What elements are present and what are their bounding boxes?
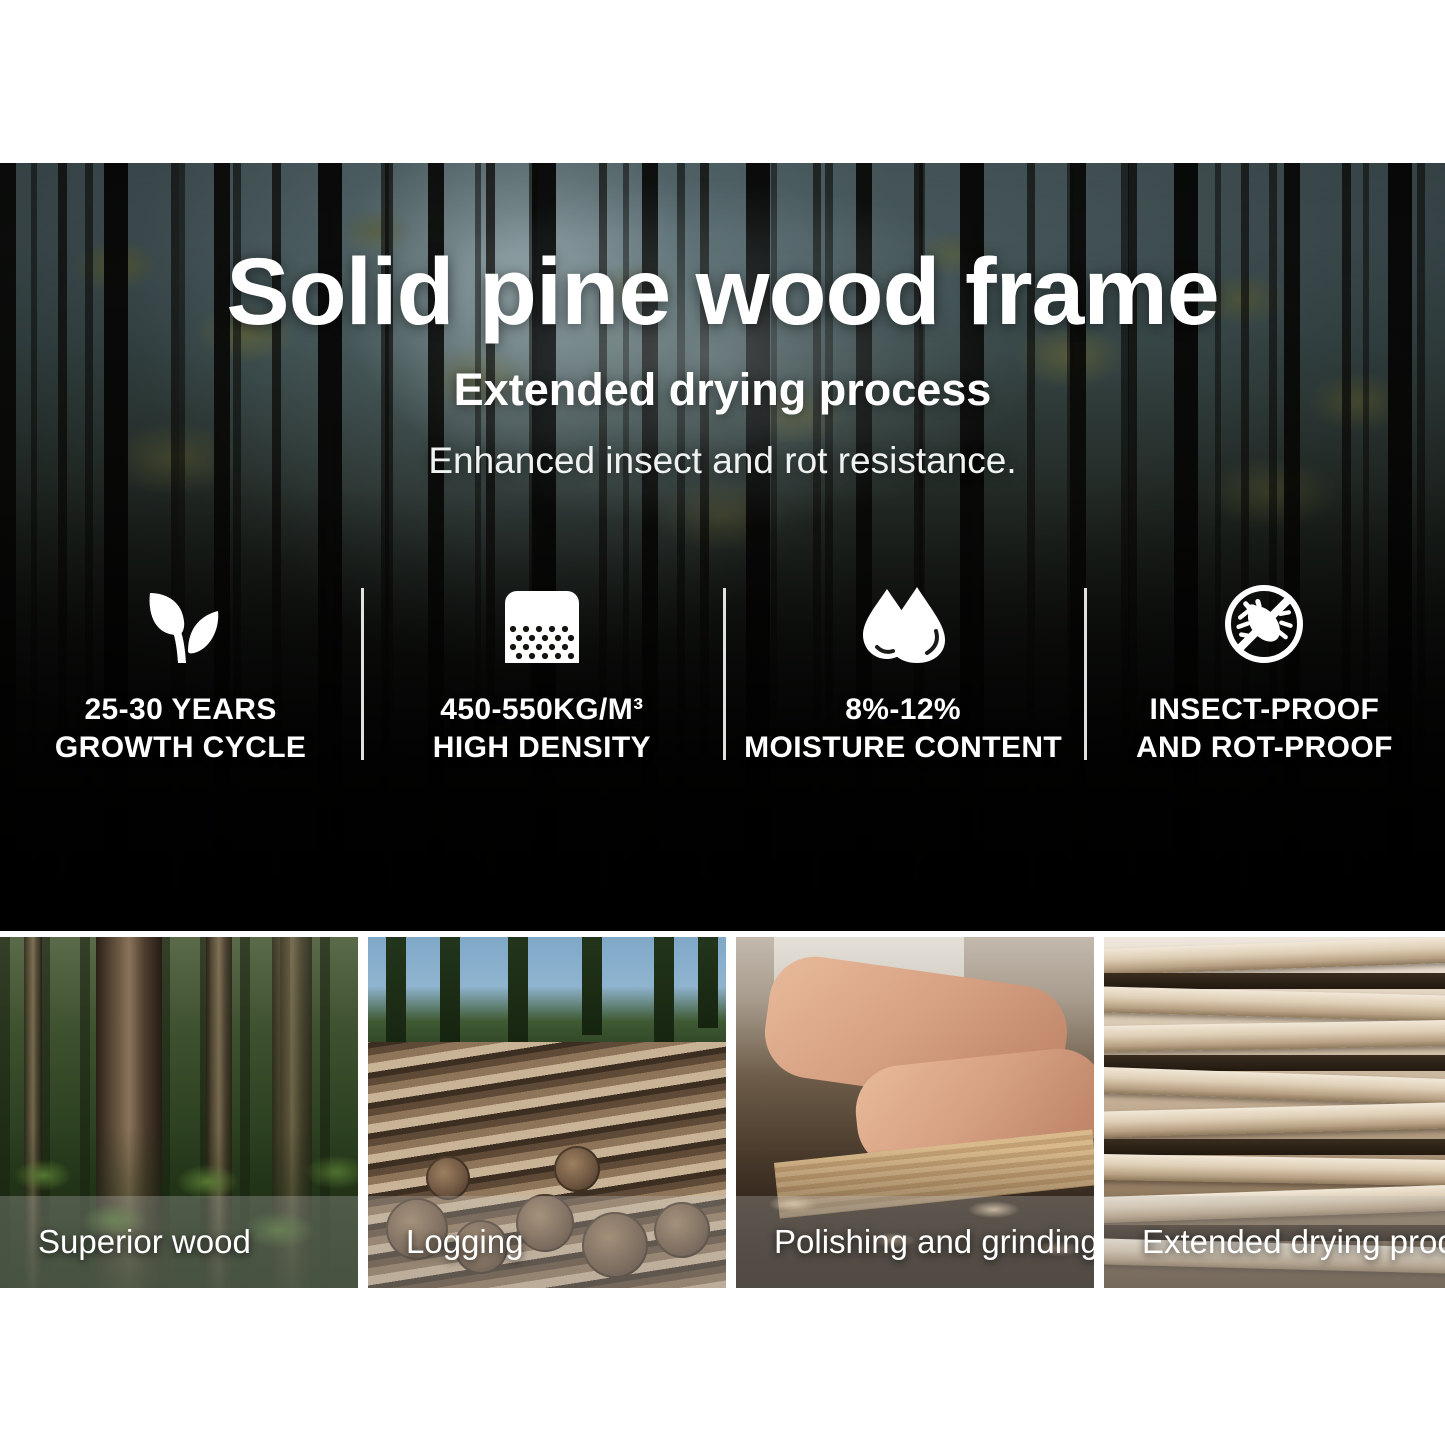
feature-insect-rot-proof: INSECT-PROOF AND ROT-PROOF: [1084, 583, 1445, 768]
hero-text-block: Solid pine wood frame Extended drying pr…: [0, 163, 1445, 482]
gallery-caption: Superior wood: [0, 1196, 358, 1288]
feature-high-density: 450-550KG/M³ HIGH DENSITY: [361, 583, 722, 768]
feature-growth-cycle: 25-30 YEARS GROWTH CYCLE: [0, 583, 361, 768]
hero-banner: Solid pine wood frame Extended drying pr…: [0, 163, 1445, 931]
gallery-tile-extended-drying[interactable]: Extended drying process: [1104, 937, 1445, 1288]
gallery-tile-superior-wood[interactable]: Superior wood: [0, 937, 358, 1288]
feature-label: 8%-12% MOISTURE CONTENT: [744, 691, 1062, 768]
feature-label: INSECT-PROOF AND ROT-PROOF: [1136, 691, 1393, 768]
gallery-caption: Logging: [368, 1196, 726, 1288]
gallery-caption: Extended drying process: [1104, 1196, 1445, 1288]
gallery-tile-logging[interactable]: Logging: [368, 937, 726, 1288]
infographic-page: Solid pine wood frame Extended drying pr…: [0, 0, 1445, 1445]
feature-label: 25-30 YEARS GROWTH CYCLE: [55, 691, 306, 768]
hero-subtitle: Extended drying process: [0, 340, 1445, 416]
feature-moisture-content: 8%-12% MOISTURE CONTENT: [723, 583, 1084, 768]
no-insect-icon: [1218, 583, 1310, 665]
hero-tagline: Enhanced insect and rot resistance.: [0, 416, 1445, 482]
gallery-caption: Polishing and grinding: [736, 1196, 1094, 1288]
top-white-margin: [0, 0, 1445, 163]
water-drops-icon: [857, 583, 949, 665]
hero-title: Solid pine wood frame: [0, 163, 1445, 340]
gallery-tile-polishing-grinding[interactable]: Polishing and grinding: [736, 937, 1094, 1288]
feature-list: 25-30 YEARS GROWTH CYCLE: [0, 583, 1445, 768]
bottom-white-margin: [0, 1288, 1445, 1445]
density-block-icon: [496, 583, 588, 665]
feature-label: 450-550KG/M³ HIGH DENSITY: [433, 691, 651, 768]
leaf-sprout-icon: [135, 583, 227, 665]
gallery-strip: Superior wood Logging: [0, 937, 1445, 1288]
